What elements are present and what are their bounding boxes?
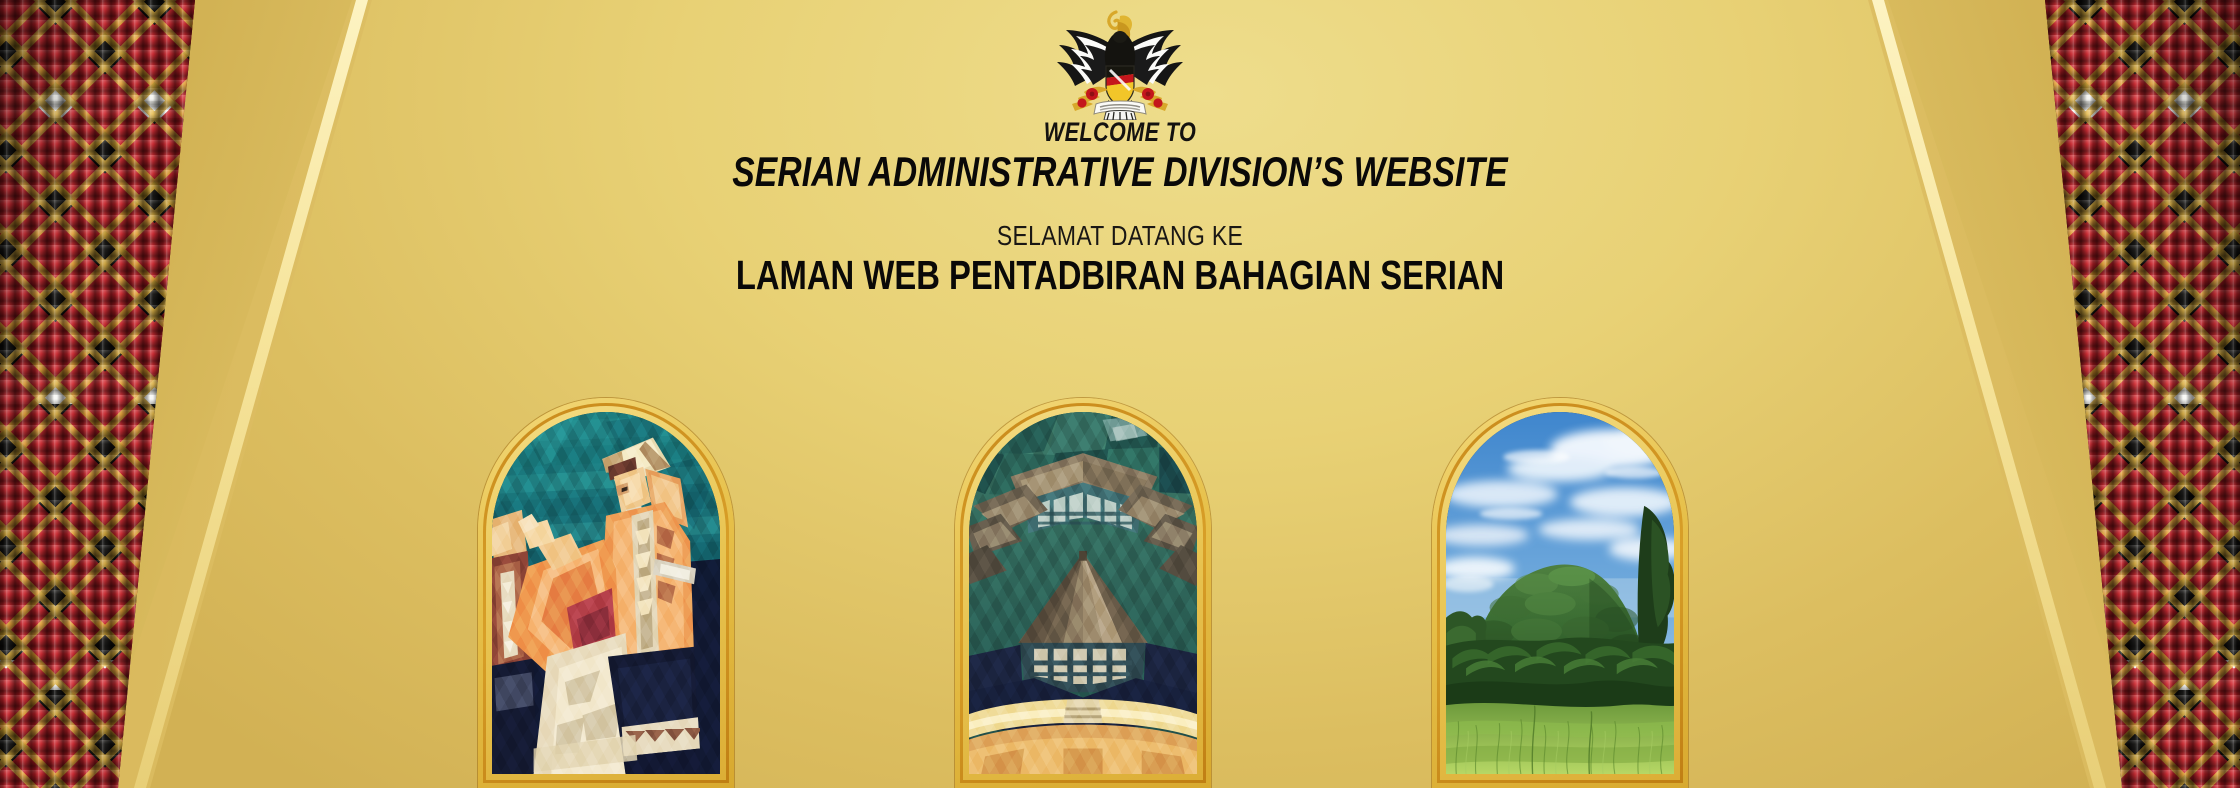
sarawak-coat-of-arms-icon xyxy=(1044,4,1196,120)
photo-cultural-dancers xyxy=(492,412,720,774)
heading-block: WELCOME TO SERIAN ADMINISTRATIVE DIVISIO… xyxy=(0,118,2240,299)
welcome-line-malay: SELAMAT DATANG KE xyxy=(202,221,2039,250)
welcome-line-english: WELCOME TO xyxy=(224,118,2016,146)
frame-cultural-dancers[interactable] xyxy=(478,398,734,788)
photo-administration-building xyxy=(969,412,1197,774)
site-title-malay: LAMAN WEB PENTADBIRAN BAHAGIAN SERIAN xyxy=(224,253,2016,299)
frame-inner-border xyxy=(483,403,729,783)
frame-inner-bevel xyxy=(486,406,726,780)
frame-inner-border xyxy=(960,403,1206,783)
site-title-english: SERIAN ADMINISTRATIVE DIVISION’S WEBSITE xyxy=(224,148,2016,195)
photo-forested-hill xyxy=(1446,412,1674,774)
welcome-banner: WELCOME TO SERIAN ADMINISTRATIVE DIVISIO… xyxy=(0,0,2240,788)
heading-spacer xyxy=(0,195,2240,221)
frame-inner-border xyxy=(1437,403,1683,783)
frame-forested-hill[interactable] xyxy=(1432,398,1688,788)
frame-inner-bevel xyxy=(963,406,1203,780)
frame-administration-building[interactable] xyxy=(955,398,1211,788)
frame-inner-bevel xyxy=(1440,406,1680,780)
